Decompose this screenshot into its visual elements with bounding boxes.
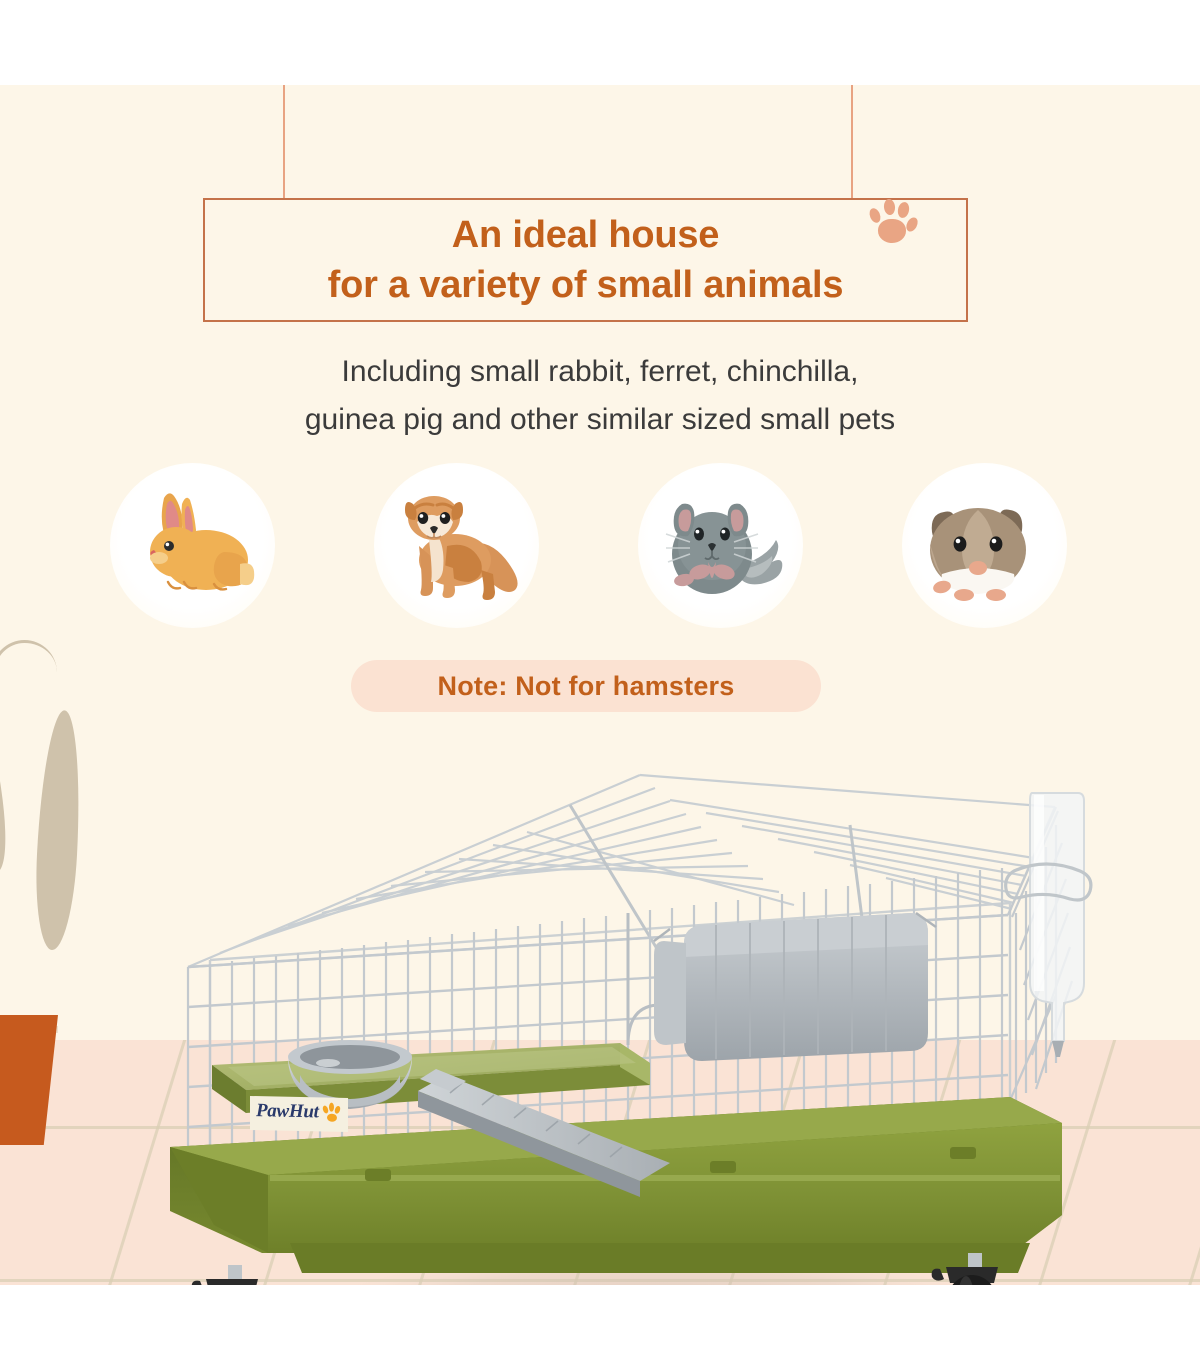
- tile-line-diagonal: [1131, 1040, 1200, 1285]
- subtitle: Including small rabbit, ferret, chinchil…: [100, 348, 1100, 444]
- marketing-panel: PawHut An ideal house for a variety of s…: [0, 0, 1200, 1372]
- animal-circle-ferret: [374, 463, 539, 628]
- plant-pot: [0, 1015, 58, 1145]
- guide-line-left: [283, 85, 285, 198]
- subtitle-line-2: guinea pig and other similar sized small…: [100, 396, 1100, 444]
- product-cage-image: [150, 745, 1110, 1285]
- chinchilla-icon: [666, 503, 782, 593]
- caster-wheel-left: [192, 1265, 258, 1285]
- animal-circle-chinchilla: [638, 463, 803, 628]
- ferret-icon: [405, 496, 518, 600]
- brand-logo: PawHut: [250, 1096, 348, 1132]
- animal-icon-row: [0, 463, 1200, 628]
- hamster-icon: [930, 508, 1026, 601]
- guide-line-right: [851, 85, 853, 198]
- animal-circle-rabbit: [110, 463, 275, 628]
- brand-paw-icon: [320, 1102, 342, 1124]
- brand-logo-text: PawHut: [256, 1100, 319, 1123]
- hay-rack-hideout: [654, 913, 936, 1061]
- headline-box: [203, 198, 968, 322]
- animal-circle-hamster: [902, 463, 1067, 628]
- paw-print-icon: [869, 197, 915, 245]
- note-badge: Note: Not for hamsters: [351, 660, 821, 712]
- rabbit-icon: [150, 493, 254, 590]
- subtitle-line-1: Including small rabbit, ferret, chinchil…: [100, 348, 1100, 396]
